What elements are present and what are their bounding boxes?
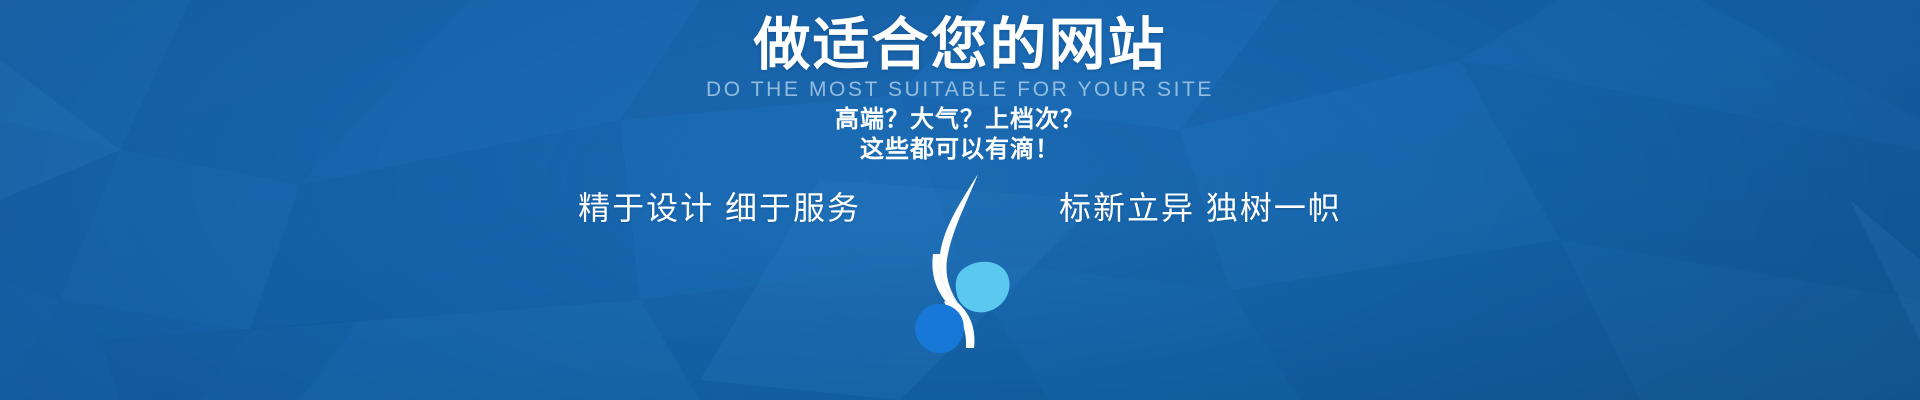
page-title: 做适合您的网站 (0, 14, 1920, 76)
question-block: 高端？大气？上档次？ 这些都可以有滴！ (0, 105, 1920, 165)
slogan-right: 标新立异 独树一帜 (1025, 188, 1445, 228)
slogan-left: 精于设计 细于服务 (475, 188, 895, 228)
question-line-1: 高端？大气？上档次？ (0, 105, 1920, 135)
question-line-2: 这些都可以有滴！ (0, 135, 1920, 165)
leaf-blue-icon (915, 304, 964, 353)
banner-content: 做适合您的网站 DO THE MOST SUITABLE FOR YOUR SI… (0, 0, 1920, 400)
headline-subtitle-english: DO THE MOST SUITABLE FOR YOUR SITE (0, 77, 1920, 103)
slogan-row: 精于设计 细于服务 标新立异 独树一帜 (0, 178, 1920, 238)
headline-block: 做适合您的网站 DO THE MOST SUITABLE FOR YOUR SI… (0, 14, 1920, 103)
hero-banner: 做适合您的网站 DO THE MOST SUITABLE FOR YOUR SI… (0, 0, 1920, 400)
logo-slot (895, 178, 1025, 238)
leaf-cyan-icon (956, 262, 1010, 313)
leaf-stem-logo (900, 170, 1020, 355)
